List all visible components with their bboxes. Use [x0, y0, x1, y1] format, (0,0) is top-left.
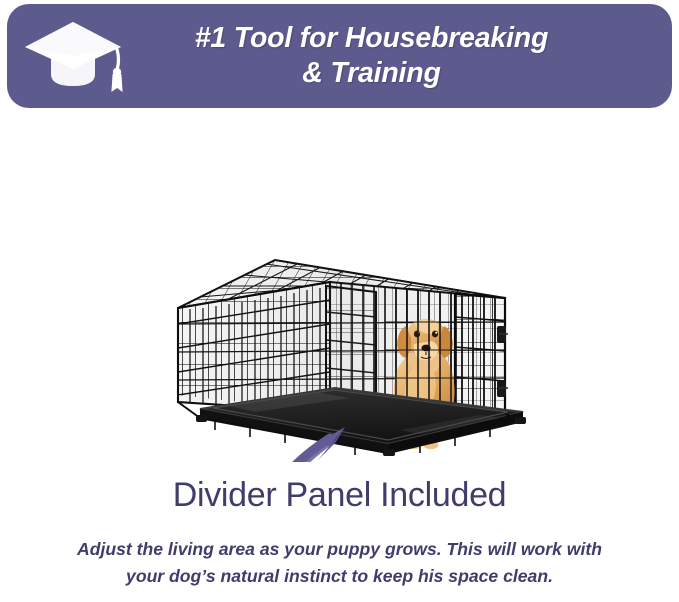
dog-eye-left — [414, 331, 420, 338]
wire-crate-illustration — [0, 112, 679, 462]
caption-line-2: your dog’s natural instinct to keep his … — [0, 563, 679, 590]
header-banner: #1 Tool for Housebreaking & Training — [7, 4, 672, 108]
banner-title: #1 Tool for Housebreaking & Training — [135, 21, 672, 91]
dog-eye-right — [432, 331, 438, 338]
banner-title-line-2: & Training — [135, 56, 608, 91]
page-title: Divider Panel Included — [0, 476, 679, 515]
graduation-cap-icon — [21, 16, 125, 96]
graduation-cap-icon-container — [7, 4, 135, 108]
banner-title-line-1: #1 Tool for Housebreaking — [135, 21, 608, 56]
dog-crate — [150, 242, 550, 462]
product-photo — [0, 112, 679, 462]
caption-text: Adjust the living area as your puppy gro… — [0, 536, 679, 589]
caption-line-1: Adjust the living area as your puppy gro… — [0, 536, 679, 563]
